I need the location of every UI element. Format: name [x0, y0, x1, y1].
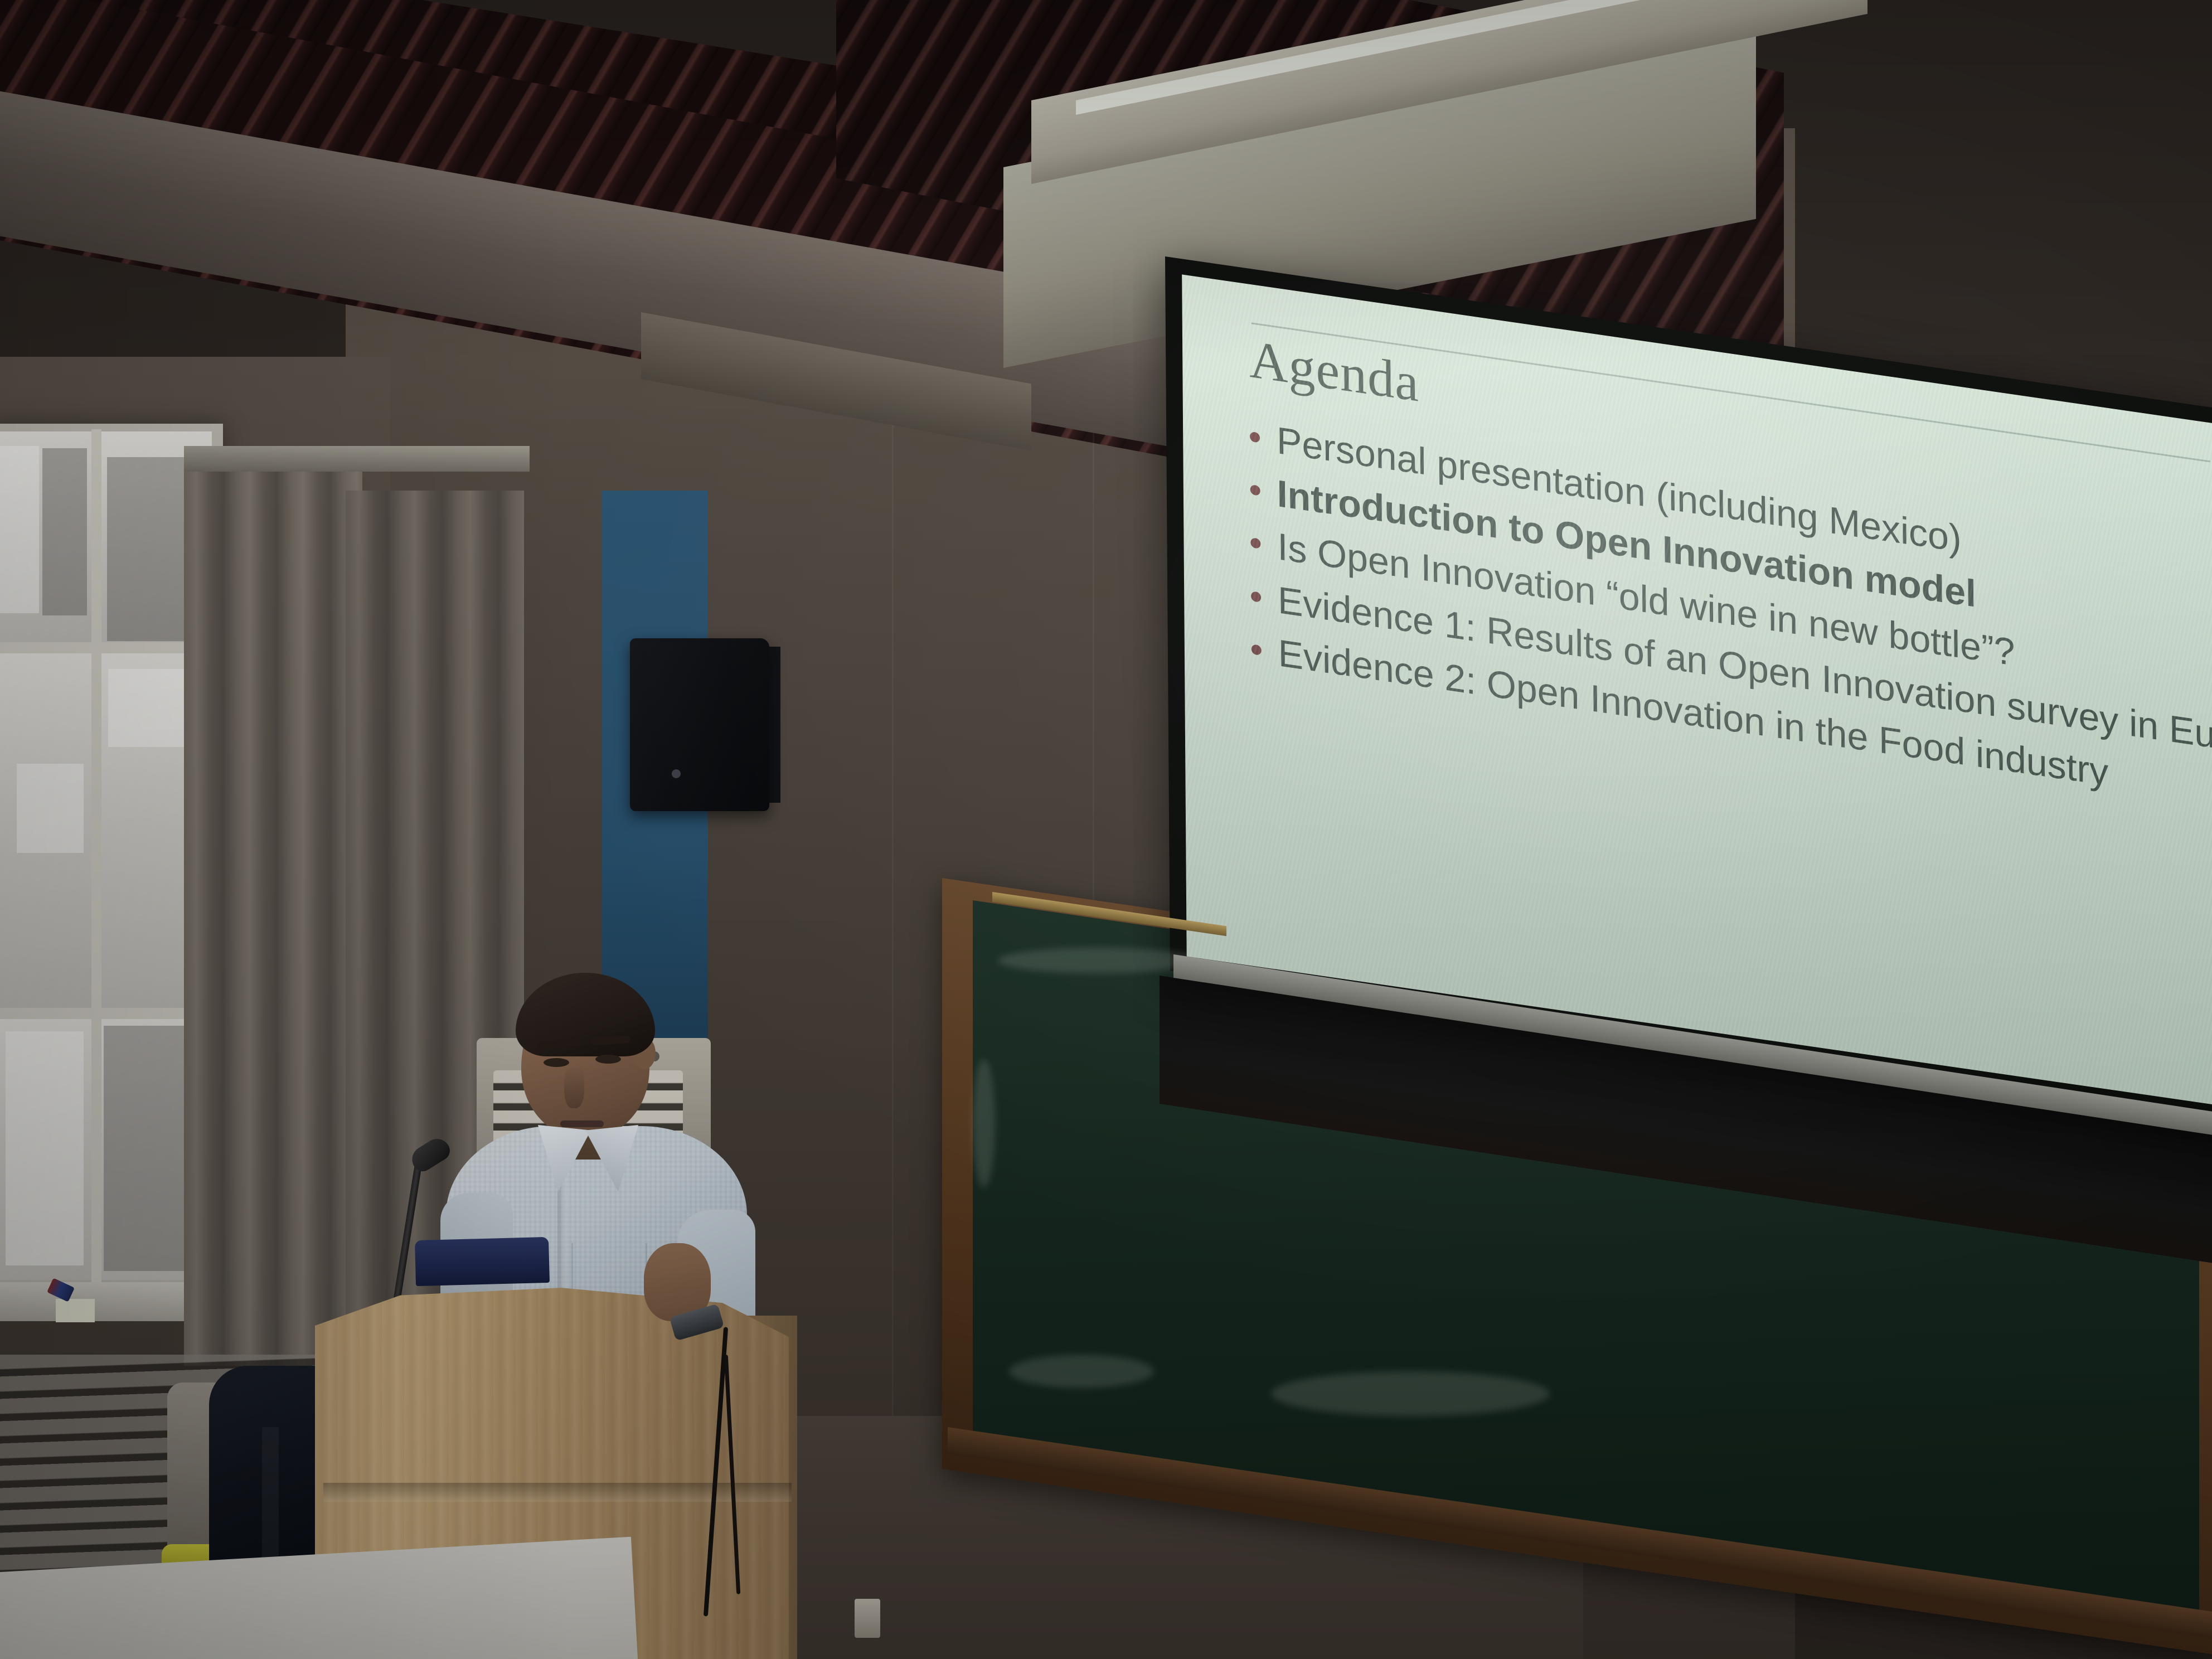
bullet-dot-icon [1250, 484, 1260, 496]
chalk-smudge [1009, 1355, 1154, 1388]
building-exterior [6, 1031, 84, 1265]
chalk-smudge [998, 948, 1199, 973]
window-mullion [0, 642, 213, 653]
bullet-dot-icon [1250, 538, 1260, 550]
window-curtain [184, 463, 362, 1366]
curtain-rod [184, 446, 530, 472]
lecture-hall-photo: Agenda Personal presentation (including … [0, 0, 2212, 1659]
chalk-smudge [1271, 1371, 1550, 1416]
building-exterior [108, 669, 186, 747]
presenter-eye [595, 1055, 621, 1064]
chalk-smudge [973, 1059, 995, 1187]
power-outlet[interactable] [855, 1599, 880, 1638]
bullet-dot-icon [1250, 431, 1260, 443]
window-sill [0, 1282, 212, 1321]
presenter-eye [544, 1058, 569, 1067]
presenter-mouth [560, 1120, 604, 1127]
window-mullion [0, 1008, 213, 1019]
sill-paper [56, 1299, 95, 1322]
podium-shelf-edge [323, 1483, 792, 1502]
presenter-nose [564, 1065, 584, 1108]
laptop-on-podium[interactable] [415, 1237, 550, 1286]
speaker-knob [672, 769, 681, 778]
bullet-dot-icon [1251, 591, 1261, 603]
building-exterior [42, 448, 87, 615]
building-exterior [107, 457, 196, 641]
building-exterior [17, 764, 84, 853]
building-exterior [0, 446, 39, 613]
bullet-dot-icon [1251, 644, 1262, 656]
window-mullion [91, 429, 101, 1282]
wall-speaker [630, 638, 769, 811]
